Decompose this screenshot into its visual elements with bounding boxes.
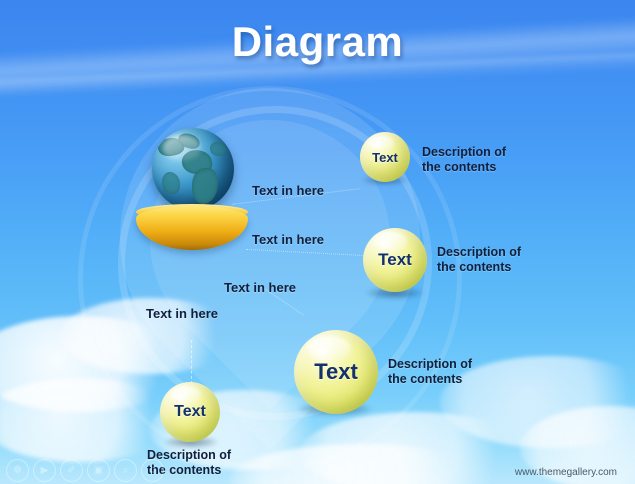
node-sphere-2[interactable]: Text: [363, 228, 427, 292]
page-title: Diagram: [0, 18, 635, 66]
connector-line-4: [191, 340, 192, 384]
node-sphere-2-label: Text: [378, 250, 412, 270]
stage-label-4: Text in here: [146, 306, 218, 321]
node-description-2-line2: the contents: [437, 260, 521, 275]
pen-icon: ✐: [60, 459, 83, 482]
node-description-2-line1: Description of: [437, 245, 521, 260]
node-description-2: Description of the contents: [437, 245, 521, 275]
globe-sphere-icon: [152, 128, 234, 210]
leaf-icon: ❁: [6, 459, 29, 482]
search-icon: ⌕: [114, 459, 137, 482]
node-sphere-1-label: Text: [372, 150, 398, 165]
play-icon: ▶: [33, 459, 56, 482]
node-sphere-4[interactable]: Text: [160, 382, 220, 442]
stage-label-3: Text in here: [224, 280, 296, 295]
node-description-1: Description of the contents: [422, 145, 506, 175]
node-description-1-line2: the contents: [422, 160, 506, 175]
earth-globe-graphic: [136, 126, 252, 254]
node-description-3: Description of the contents: [388, 357, 472, 387]
connector-line-2: [246, 249, 366, 256]
node-description-3-line1: Description of: [388, 357, 472, 372]
watermark-icon-bar: ❁ ▶ ✐ ▣ ⌕ ☺: [6, 459, 164, 482]
node-sphere-3-label: Text: [314, 359, 358, 385]
stage-label-1: Text in here: [252, 183, 324, 198]
stage-label-2: Text in here: [252, 232, 324, 247]
globe-highlight: [163, 135, 201, 161]
node-sphere-1[interactable]: Text: [360, 132, 410, 182]
camera-icon: ▣: [87, 459, 110, 482]
node-sphere-4-label: Text: [174, 403, 206, 421]
node-description-1-line1: Description of: [422, 145, 506, 160]
node-description-3-line2: the contents: [388, 372, 472, 387]
smiley-icon: ☺: [141, 459, 164, 482]
node-sphere-3[interactable]: Text: [294, 330, 378, 414]
site-url-text: www.themegallery.com: [515, 467, 617, 478]
slide-canvas: Diagram Text in here Text in here Text i…: [0, 0, 635, 484]
gold-dish-icon: [136, 206, 248, 250]
